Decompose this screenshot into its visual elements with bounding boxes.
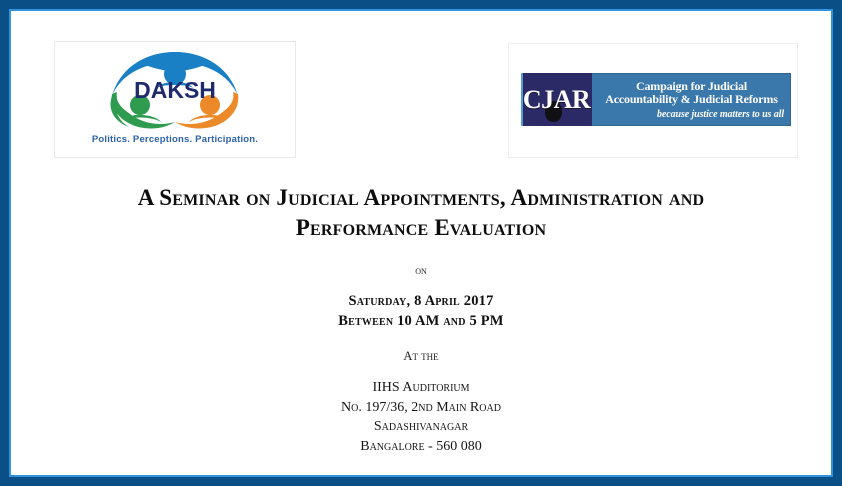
venue-line-4: Bangalore - 560 080 (11, 437, 831, 457)
cjar-tagline: because justice matters to us all (657, 109, 784, 120)
venue-line-2: No. 197/36, 2nd Main Road (11, 398, 831, 418)
daksh-logo: DAKSH Politics. Perceptions. Participati… (54, 41, 296, 158)
cjar-acronym-text: CJAR (523, 87, 590, 113)
cjar-text-block: Campaign for Judicial Accountability & J… (592, 73, 791, 126)
seminar-title-line-2: Performance Evaluation (296, 215, 547, 240)
poster-canvas: DAKSH Politics. Perceptions. Participati… (11, 11, 831, 475)
svg-text:DAKSH: DAKSH (134, 77, 216, 103)
seminar-title-line-1: A Seminar on Judicial Appointments, Admi… (138, 185, 704, 210)
seminar-time: Between 10 AM and 5 PM (11, 311, 831, 331)
venue-block: IIHS Auditorium No. 197/36, 2nd Main Roa… (11, 378, 831, 458)
venue-line-3: Sadashivanagar (11, 417, 831, 437)
at-the-label: At the (11, 349, 831, 364)
cjar-acronym-mark: CJAR (521, 73, 592, 126)
poster-content: A Seminar on Judicial Appointments, Admi… (11, 171, 831, 475)
seminar-date: Saturday, 8 April 2017 (11, 291, 831, 311)
logo-row: DAKSH Politics. Perceptions. Participati… (11, 11, 831, 171)
seminar-title: A Seminar on Judicial Appointments, Admi… (76, 183, 766, 244)
daksh-tagline: Politics. Perceptions. Participation. (55, 134, 295, 145)
on-label: on (11, 263, 831, 278)
cjar-logo: CJAR Campaign for Judicial Accountabilit… (508, 43, 798, 158)
poster-frame: DAKSH Politics. Perceptions. Participati… (0, 0, 842, 486)
venue-line-1: IIHS Auditorium (11, 378, 831, 398)
cjar-banner: CJAR Campaign for Judicial Accountabilit… (521, 73, 791, 126)
date-time-block: Saturday, 8 April 2017 Between 10 AM and… (11, 291, 831, 331)
daksh-emblem-icon: DAKSH (95, 48, 255, 130)
cjar-title: Campaign for Judicial Accountability & J… (599, 80, 784, 106)
